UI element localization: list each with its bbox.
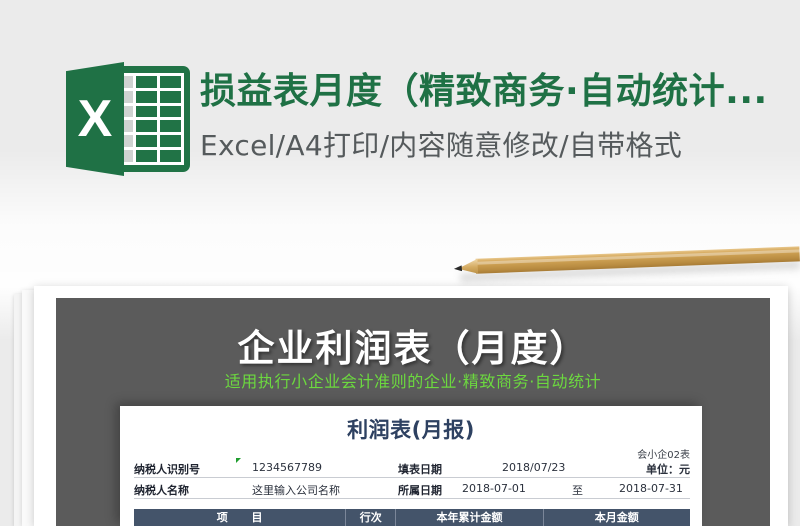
- page-subtitle: Excel/A4打印/内容随意修改/自带格式: [200, 124, 682, 164]
- table-header-month: 本月金额: [543, 509, 690, 526]
- excel-file-icon: X: [66, 62, 192, 176]
- taxpayer-name-label: 纳税人名称: [134, 482, 189, 498]
- currency-unit-label: 单位：元: [646, 461, 690, 477]
- report-sheet-title: 利润表(月报): [120, 414, 702, 444]
- fill-date-value[interactable]: 2018/07/23: [502, 461, 565, 474]
- excel-icon-grid-cells: [136, 76, 181, 162]
- table-header-rowno: 行次: [345, 509, 395, 526]
- taxpayer-id-label: 纳税人识别号: [134, 461, 200, 477]
- page-title: 损益表月度（精致商务·自动统计...: [200, 62, 768, 114]
- period-start-value[interactable]: 2018-07-01: [462, 482, 526, 495]
- pencil-lead-tip: [454, 265, 462, 271]
- period-separator: 至: [572, 482, 583, 498]
- period-label: 所属日期: [398, 482, 442, 498]
- preview-panel-title: 企业利润表（月度）: [56, 318, 770, 372]
- header: X 损益表月度（精致商务·自动统计... Excel/A4打印/内容随意修改/自…: [0, 52, 800, 182]
- table-header-item: 项 目: [134, 509, 345, 526]
- report-info-row: 纳税人名称 这里输入公司名称 所属日期 2018-07-01 至 2018-07…: [134, 479, 690, 499]
- taxpayer-id-value[interactable]: 1234567789: [252, 461, 322, 474]
- fill-date-label: 填表日期: [398, 461, 442, 477]
- period-end-value[interactable]: 2018-07-31: [619, 482, 683, 495]
- excel-icon-grid: [121, 76, 181, 162]
- preview-panel-subtitle: 适用执行小企业会计准则的企业·精致商务·自动统计: [56, 368, 770, 392]
- cell-error-marker-icon: [236, 458, 241, 463]
- taxpayer-name-value[interactable]: 这里输入公司名称: [252, 482, 340, 498]
- report-info-row: 纳税人识别号 1234567789 填表日期 2018/07/23 单位：元: [134, 458, 690, 478]
- pencil-illustration: [451, 241, 800, 292]
- table-header-ytd: 本年累计金额: [395, 509, 542, 526]
- excel-icon-letter: X: [66, 62, 124, 176]
- report-table-header: 项 目 行次 本年累计金额 本月金额: [134, 509, 690, 526]
- screenshot-stage: X 损益表月度（精致商务·自动统计... Excel/A4打印/内容随意修改/自…: [0, 0, 800, 526]
- report-sheet: 利润表(月报) 会小企02表 纳税人识别号 1234567789 填表日期 20…: [120, 406, 702, 526]
